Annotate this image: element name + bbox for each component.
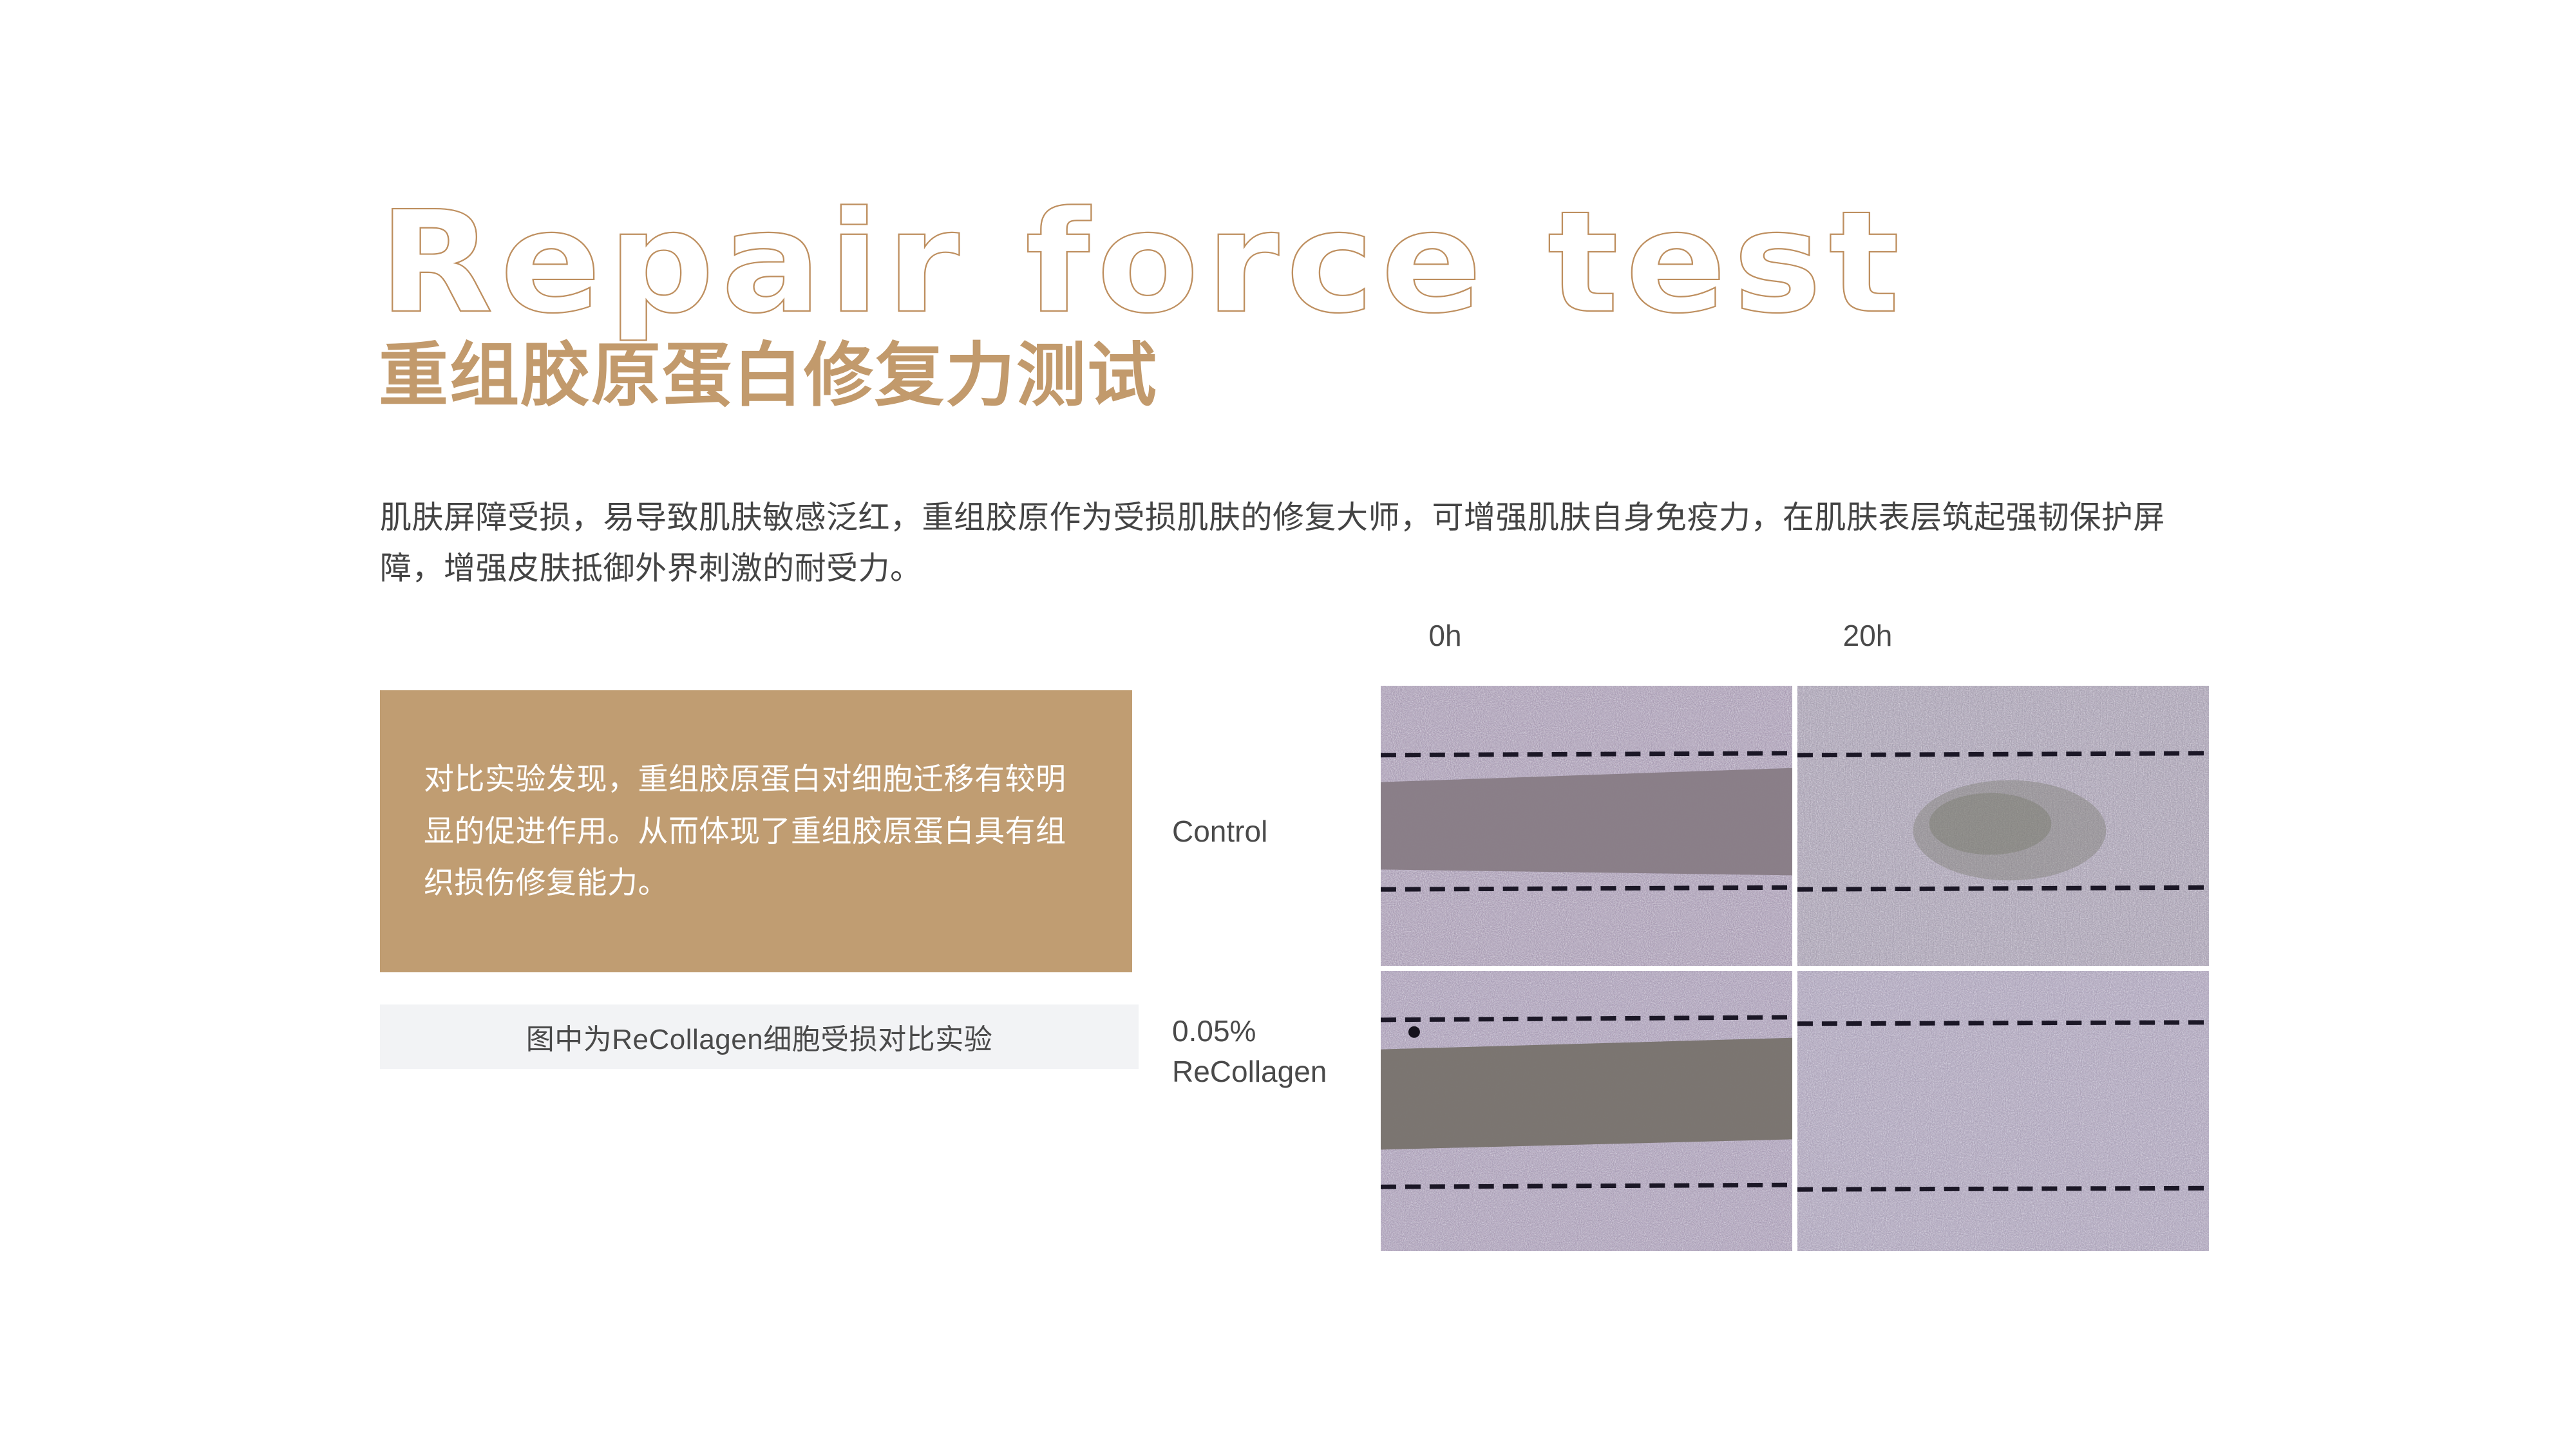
micrograph-control-0h xyxy=(1381,686,1792,966)
title-block: Repair force test 重组胶原蛋白修复力测试 xyxy=(379,193,2246,415)
micrograph-control-20h-image xyxy=(1797,686,2209,966)
micrograph-figure: 0h 20h Control 0.05% ReCollagen xyxy=(1172,618,2241,1269)
micrograph-control-20h xyxy=(1797,686,2209,966)
micrograph-control-0h-image xyxy=(1381,686,1792,966)
column-header-0h: 0h xyxy=(1381,618,1510,653)
intro-paragraph: 肌肤屏障受损，易导致肌肤敏感泛红，重组胶原作为受损肌肤的修复大师，可增强肌肤自身… xyxy=(380,493,2228,595)
column-header-20h: 20h xyxy=(1803,618,1932,653)
figure-caption-text: 图中为ReCollagen细胞受损对比实验 xyxy=(526,1016,992,1057)
row-label-recollagen-concentration: 0.05% xyxy=(1172,1011,1365,1052)
row-label-control: Control xyxy=(1172,811,1365,852)
page-title-chinese: 重组胶原蛋白修复力测试 xyxy=(379,337,2246,415)
micrograph-recollagen-20h-image xyxy=(1797,971,2209,1251)
page-title-english: Repair force test xyxy=(379,193,2358,334)
callout-box: 对比实验发现，重组胶原蛋白对细胞迁移有较明显的促进作用。从而体现了重组胶原蛋白具… xyxy=(380,690,1132,972)
row-label-recollagen: 0.05% ReCollagen xyxy=(1172,1011,1365,1093)
row-label-recollagen-name: ReCollagen xyxy=(1172,1052,1365,1092)
callout-text: 对比实验发现，重组胶原蛋白对细胞迁移有较明显的促进作用。从而体现了重组胶原蛋白具… xyxy=(380,753,1132,909)
figure-caption-bar: 图中为ReCollagen细胞受损对比实验 xyxy=(380,1004,1139,1069)
micrograph-grid xyxy=(1381,686,2209,1251)
micrograph-recollagen-0h-image xyxy=(1381,971,1792,1251)
micrograph-recollagen-0h xyxy=(1381,971,1792,1251)
micrograph-recollagen-20h xyxy=(1797,971,2209,1251)
